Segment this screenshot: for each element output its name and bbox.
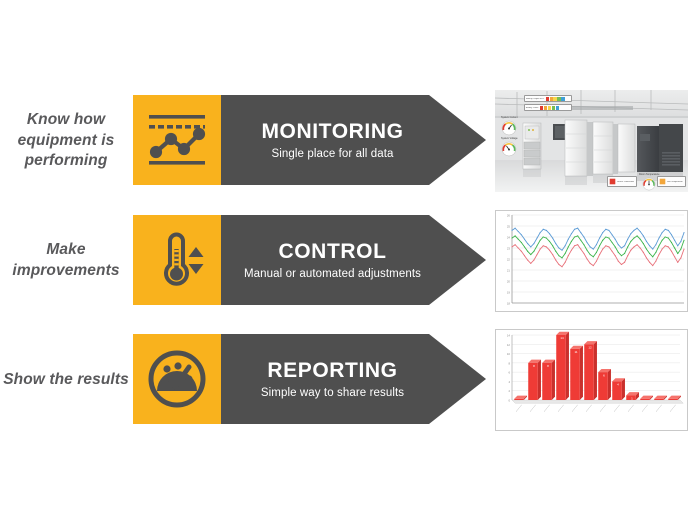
svg-text:0: 0 <box>508 399 510 403</box>
svg-text:22: 22 <box>507 258 511 262</box>
banner-reporting: REPORTING Simple way to share results <box>221 334 486 424</box>
svg-text:24: 24 <box>507 236 511 240</box>
gauge-percent-icon-tile <box>133 334 221 424</box>
svg-text:11: 11 <box>574 350 577 354</box>
thermometer-adjust-icon <box>146 229 208 291</box>
svg-text:14: 14 <box>560 336 564 340</box>
svg-text:8: 8 <box>508 361 510 365</box>
gauge-icon <box>501 120 517 136</box>
svg-text:———: ——— <box>626 403 635 413</box>
overlay-system-current-gauge[interactable]: System Current <box>501 116 518 136</box>
svg-text:———: ——— <box>598 403 607 413</box>
device-icon <box>609 178 616 185</box>
process-row-reporting: Show the results REPORTING Simple way to… <box>0 324 692 436</box>
process-row-monitoring: Know how equipment is performing <box>0 85 692 197</box>
banner-control: CONTROL Manual or automated adjustments <box>221 215 486 305</box>
svg-text:18: 18 <box>507 302 511 306</box>
process-row-control: Make improvements <box>0 205 692 317</box>
svg-text:14: 14 <box>507 334 511 338</box>
banner-title-reporting: REPORTING <box>267 359 397 382</box>
svg-text:26: 26 <box>507 214 511 218</box>
thermometer-icon <box>659 178 666 185</box>
svg-text:20: 20 <box>507 280 511 284</box>
banner-subtitle-monitoring: Single place for all data <box>271 148 393 161</box>
line-chart-trend-icon <box>145 108 209 172</box>
svg-text:———: ——— <box>556 403 565 413</box>
overlay-unit-temperature-chip[interactable]: Unit Temperature <box>657 176 686 187</box>
server-room-dashboard-photo: Battery Output 01/2 Battery Check <box>495 90 688 192</box>
temperature-trend-line-chart: 181920212223242526 <box>495 210 688 312</box>
overlay-device-connected-label: Device Connected <box>617 181 634 183</box>
overlay-device-connected-chip[interactable]: Device Connected <box>607 176 637 187</box>
overlay-battery-check-chip[interactable]: Battery Check <box>524 104 572 111</box>
banner-title-control: CONTROL <box>278 240 386 263</box>
svg-text:———: ——— <box>640 403 649 413</box>
overlay-battery-check-label: Battery Check <box>526 107 539 109</box>
svg-text:10: 10 <box>507 352 511 356</box>
svg-text:———: ——— <box>584 403 593 413</box>
svg-text:12: 12 <box>507 343 511 347</box>
svg-text:———: ——— <box>514 403 523 413</box>
diagram-canvas: Know how equipment is performing <box>0 0 692 515</box>
banner-subtitle-reporting: Simple way to share results <box>261 387 404 400</box>
svg-text:23: 23 <box>507 247 511 251</box>
banner-title-monitoring: MONITORING <box>261 120 403 143</box>
svg-text:———: ——— <box>654 403 663 413</box>
row-caption-monitoring: Know how equipment is performing <box>2 85 130 197</box>
overlay-system-voltage-gauge[interactable]: System Voltage <box>501 137 518 157</box>
overlay-battery-check-swatches <box>539 105 559 110</box>
banner-monitoring: MONITORING Single place for all data <box>221 95 486 185</box>
svg-text:4: 4 <box>508 380 510 384</box>
svg-text:6: 6 <box>508 371 510 375</box>
svg-text:———: ——— <box>668 403 677 413</box>
overlay-battery-output-swatches <box>545 96 565 101</box>
row-caption-reporting: Show the results <box>2 324 130 436</box>
savings-bar-chart: 02468101214———8———8———14———11———12———6——… <box>495 329 688 431</box>
svg-text:25: 25 <box>507 225 511 229</box>
svg-text:2: 2 <box>508 389 510 393</box>
overlay-unit-temperature-label: Unit Temperature <box>667 181 683 183</box>
line-chart-trend-icon-tile <box>133 95 221 185</box>
gauge-icon <box>642 177 656 191</box>
bar-chart-svg: 02468101214———8———8———14———11———12———6——… <box>496 330 687 430</box>
svg-text:12: 12 <box>588 345 592 349</box>
line-chart-svg: 181920212223242526 <box>496 211 687 311</box>
svg-text:19: 19 <box>507 291 511 295</box>
thermometer-adjust-icon-tile <box>133 215 221 305</box>
svg-text:———: ——— <box>528 403 537 413</box>
banner-subtitle-control: Manual or automated adjustments <box>244 268 421 281</box>
svg-text:21: 21 <box>507 269 511 273</box>
gauge-percent-icon <box>145 347 209 411</box>
overlay-battery-output-chip[interactable]: Battery Output 01/2 <box>524 95 572 102</box>
svg-text:———: ——— <box>612 403 621 413</box>
overlay-battery-output-label: Battery Output 01/2 <box>526 98 544 100</box>
gauge-icon <box>501 141 517 157</box>
svg-text:———: ——— <box>570 403 579 413</box>
svg-text:———: ——— <box>542 403 551 413</box>
row-caption-control: Make improvements <box>2 205 130 317</box>
